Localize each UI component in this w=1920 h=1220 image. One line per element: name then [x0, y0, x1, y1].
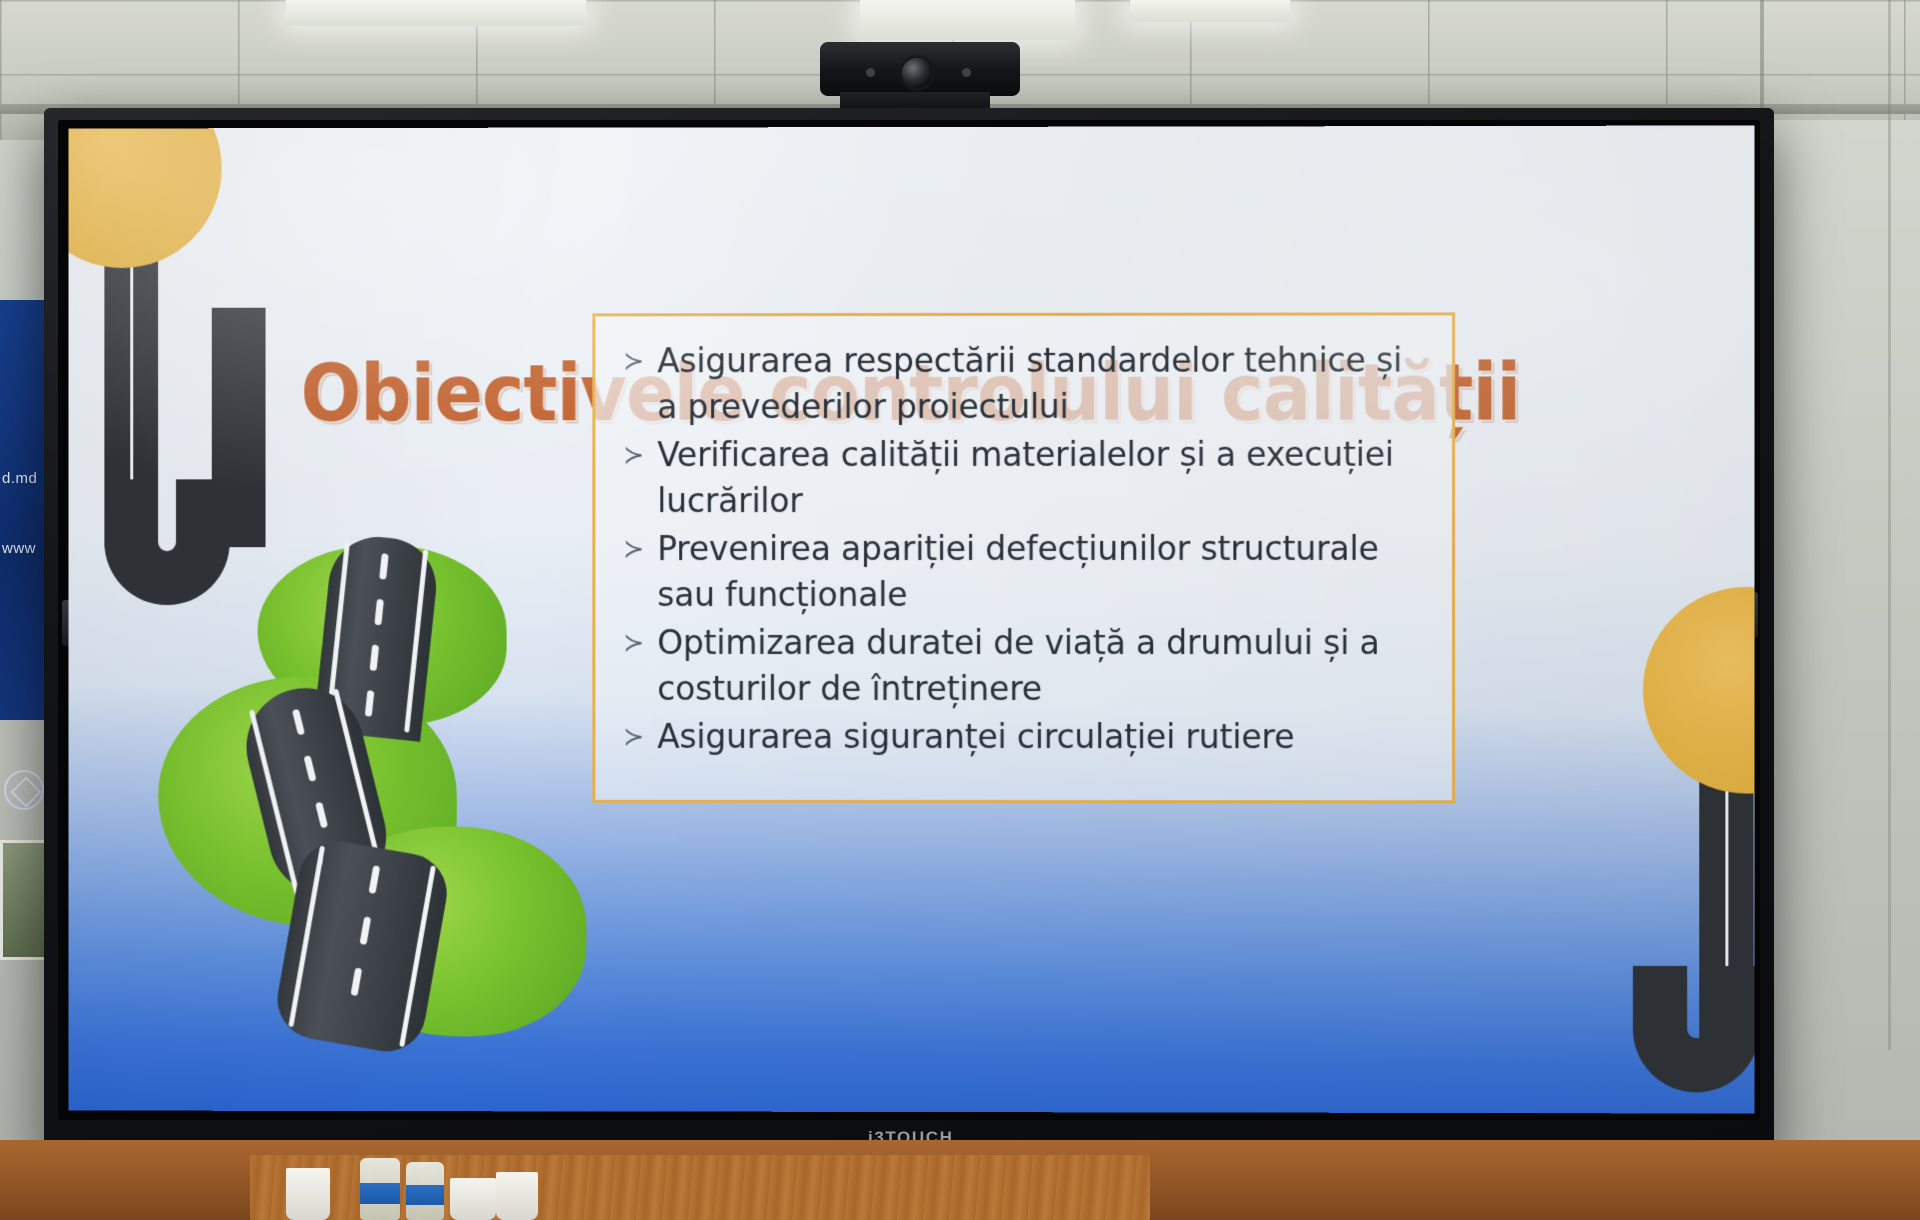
- decorative-circle-right: [1643, 587, 1755, 794]
- poster-text-line-2: www: [2, 540, 36, 557]
- ceiling-light: [1130, 0, 1290, 22]
- road-dash: [304, 755, 317, 782]
- bullet-text: Asigurarea respectării standardelor tehn…: [657, 337, 1432, 430]
- water-bottle: [360, 1158, 400, 1220]
- webcam-indicator-led: [866, 68, 875, 77]
- chevron-bullet-icon: ≻: [617, 432, 657, 478]
- paper-cup: [450, 1178, 496, 1220]
- water-bottle: [406, 1162, 444, 1220]
- road-dash: [369, 865, 381, 894]
- webcam-indicator-led: [962, 68, 971, 77]
- ceiling-light: [286, 0, 586, 26]
- chevron-bullet-icon: ≻: [617, 714, 657, 760]
- road-dash: [370, 644, 380, 671]
- bottle-label: [360, 1183, 400, 1204]
- road-dash: [292, 709, 305, 736]
- presentation-slide[interactable]: Obiectivele controlului calității: [69, 125, 1755, 1113]
- wall-seam: [1888, 0, 1891, 1050]
- bullet-text: Optimizarea duratei de viață a drumului …: [657, 620, 1432, 712]
- bullet-list: ≻ Asigurarea respectării standardelor te…: [617, 337, 1432, 760]
- paper-cup: [286, 1168, 330, 1220]
- road-dash: [351, 967, 363, 996]
- decorative-road-curve-right: [1633, 966, 1755, 1093]
- road-dash: [374, 599, 384, 626]
- chevron-bullet-icon: ≻: [617, 620, 657, 666]
- list-item: ≻ Asigurarea siguranței circulației ruti…: [617, 714, 1432, 760]
- poster-logo-icon: [4, 770, 44, 810]
- road-dash: [315, 802, 328, 829]
- winding-road-illustration: [138, 527, 606, 1046]
- chevron-bullet-icon: ≻: [617, 338, 657, 384]
- ceiling-light: [860, 0, 1075, 40]
- list-item: ≻ Optimizarea duratei de viață a drumulu…: [617, 620, 1432, 712]
- list-item: ≻ Prevenirea apariției defecțiunilor str…: [617, 526, 1432, 618]
- chevron-bullet-icon: ≻: [617, 526, 657, 572]
- poster-text-line-1: d.md: [2, 470, 37, 487]
- road-dash: [379, 553, 389, 580]
- road-dash: [365, 690, 375, 717]
- bottle-label: [406, 1185, 444, 1205]
- road-dash: [360, 916, 372, 945]
- bullet-content-box: ≻ Asigurarea respectării standardelor te…: [592, 312, 1455, 803]
- bullet-text: Asigurarea siguranței circulației rutier…: [657, 714, 1432, 760]
- decorative-circle-left: [69, 125, 222, 268]
- screenshot-scene: d.md www Obiectivele controlului calităț…: [0, 0, 1920, 1220]
- bullet-text: Verificarea calității materialelor și a …: [657, 432, 1432, 524]
- paper-cup: [496, 1172, 538, 1220]
- bullet-text: Prevenirea apariției defecțiunilor struc…: [657, 526, 1432, 618]
- list-item: ≻ Verificarea calității materialelor și …: [617, 432, 1432, 524]
- list-item: ≻ Asigurarea respectării standardelor te…: [617, 337, 1432, 430]
- webcam-lens-icon: [902, 58, 932, 88]
